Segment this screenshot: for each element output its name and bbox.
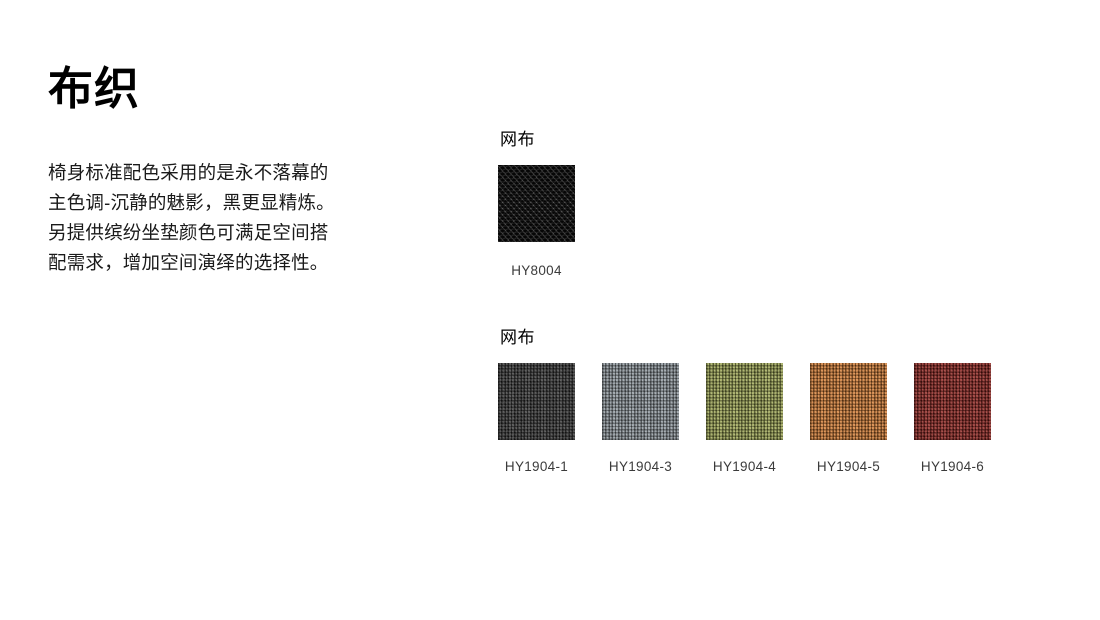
body-paragraph: 椅身标准配色采用的是永不落幕的 主色调-沉静的魅影，黑更显精炼。 另提供缤纷坐垫… [48, 158, 408, 278]
swatch-label: HY1904-3 [609, 459, 672, 475]
swatch-hy1904-1[interactable]: HY1904-1 [498, 363, 575, 475]
swatch-hy1904-4[interactable]: HY1904-4 [706, 363, 783, 475]
swatch-label: HY1904-6 [921, 459, 984, 475]
swatch-hy1904-6[interactable]: HY1904-6 [914, 363, 991, 475]
swatch-group-mesh-primary: 网布 HY8004 [498, 130, 1038, 280]
swatch-chip[interactable] [914, 363, 991, 440]
swatch-hy1904-5[interactable]: HY1904-5 [810, 363, 887, 475]
swatch-label: HY1904-1 [505, 459, 568, 475]
slide-canvas: 布织 椅身标准配色采用的是永不落幕的 主色调-沉静的魅影，黑更显精炼。 另提供缤… [0, 0, 1100, 620]
group-heading: 网布 [500, 130, 1038, 150]
page-title: 布织 [48, 64, 408, 114]
swatch-row: HY8004 [498, 165, 1038, 279]
swatch-area: 网布 HY8004 网布 HY1904-1 HY1904-3 [498, 130, 1038, 475]
swatch-label: HY1904-5 [817, 459, 880, 475]
swatch-hy1904-3[interactable]: HY1904-3 [602, 363, 679, 475]
swatch-chip[interactable] [810, 363, 887, 440]
swatch-chip[interactable] [706, 363, 783, 440]
swatch-group-mesh-colors: 网布 HY1904-1 HY1904-3 HY1904-4 HY1904-5 [498, 328, 1038, 476]
swatch-label: HY8004 [511, 263, 562, 279]
swatch-row: HY1904-1 HY1904-3 HY1904-4 HY1904-5 HY19 [498, 363, 1038, 475]
text-column: 布织 椅身标准配色采用的是永不落幕的 主色调-沉静的魅影，黑更显精炼。 另提供缤… [48, 64, 408, 278]
swatch-chip[interactable] [498, 363, 575, 440]
group-heading: 网布 [500, 328, 1038, 348]
swatch-hy8004[interactable]: HY8004 [498, 165, 575, 279]
swatch-chip[interactable] [498, 165, 575, 242]
swatch-chip[interactable] [602, 363, 679, 440]
swatch-label: HY1904-4 [713, 459, 776, 475]
